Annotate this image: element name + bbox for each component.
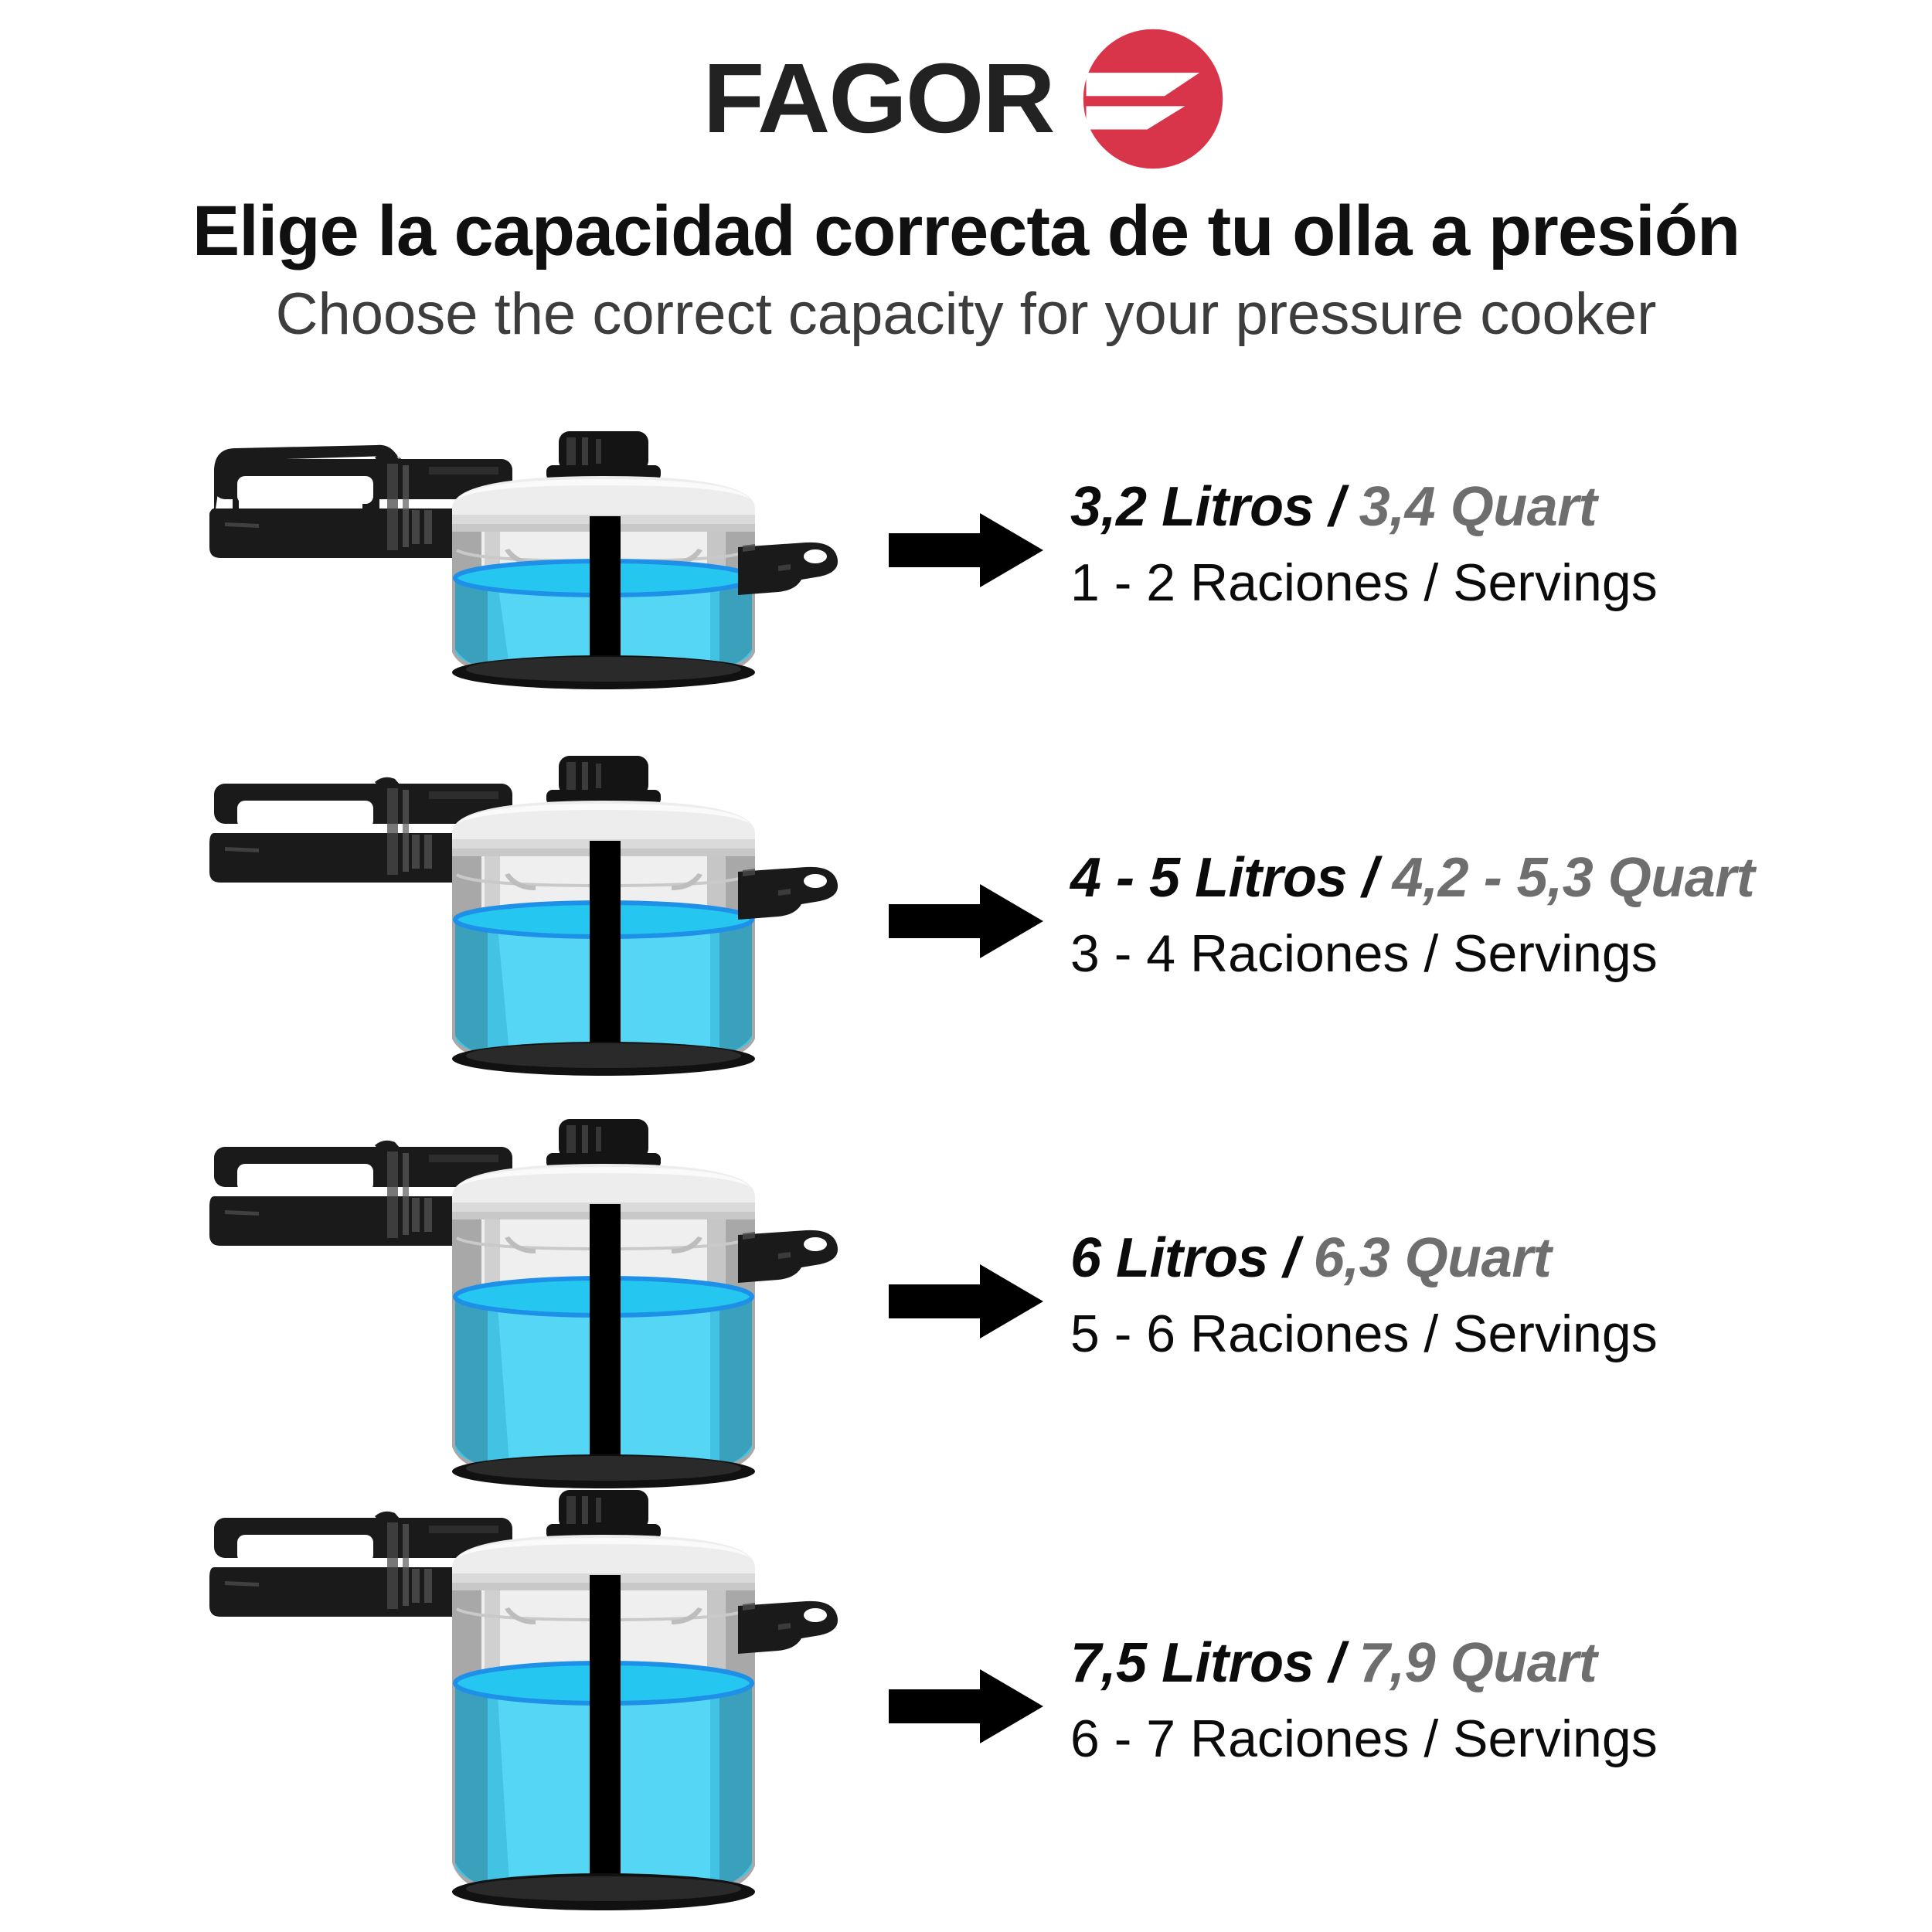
arrow-right-icon (889, 879, 1043, 963)
center-seam (590, 516, 621, 677)
arrow-right-icon (889, 1260, 1043, 1343)
capacity-row: 3,2 Litros / 3,4 Quart 1 - 2 Raciones / … (0, 402, 1932, 711)
capacity-label-group: 4 - 5 Litros / 4,2 - 5,3 Quart 3 - 4 Rac… (1070, 850, 1905, 980)
right-handle-icon (738, 1601, 838, 1654)
pot-base (452, 1873, 755, 1910)
servings-line: 3 - 4 Raciones / Servings (1070, 927, 1905, 980)
brand-header: FAGOR (0, 22, 1932, 176)
capacity-row: 7,5 Litros / 7,9 Quart 6 - 7 Raciones / … (0, 1476, 1932, 1932)
cooker-group-3 (209, 1119, 838, 1488)
pressure-cooker-graphic (197, 1476, 862, 1917)
capacity-separator: / (1314, 476, 1359, 538)
servings-line: 6 - 7 Raciones / Servings (1070, 1713, 1905, 1765)
capacity-separator: / (1268, 1227, 1314, 1289)
infographic-page: FAGOR Elige la capacidad correcta de tu … (0, 0, 1932, 1932)
brand-wordmark: FAGOR (703, 49, 1054, 148)
capacity-separator: / (1314, 1632, 1359, 1694)
capacity-metric: 7,5 Litros (1070, 1632, 1314, 1694)
pressure-cooker-graphic (197, 417, 862, 689)
capacity-metric: 3,2 Litros (1070, 476, 1314, 538)
capacity-imperial: 4,2 - 5,3 Quart (1393, 847, 1755, 909)
capacity-separator: / (1347, 847, 1393, 909)
pot-base (452, 1042, 755, 1076)
cooker-group-2 (209, 756, 838, 1076)
capacity-row: 4 - 5 Litros / 4,2 - 5,3 Quart 3 - 4 Rac… (0, 742, 1932, 1097)
capacity-metric: 6 Litros (1070, 1227, 1268, 1289)
pressure-cooker-icon (197, 1476, 862, 1917)
title-block: Elige la capacidad correcta de tu olla a… (0, 193, 1932, 349)
capacity-imperial: 7,9 Quart (1359, 1632, 1597, 1694)
pressure-cooker-icon (197, 1105, 862, 1492)
capacity-label-group: 6 Litros / 6,3 Quart 5 - 6 Raciones / Se… (1070, 1230, 1905, 1360)
cooker-group-1 (209, 431, 838, 689)
right-handle-icon (738, 543, 838, 595)
pot-base (452, 655, 755, 689)
page-title: Elige la capacidad correcta de tu olla a… (0, 193, 1932, 270)
center-seam (590, 1575, 621, 1896)
capacity-metric: 4 - 5 Litros (1070, 847, 1347, 909)
capacity-imperial: 3,4 Quart (1359, 476, 1597, 538)
servings-line: 5 - 6 Raciones / Servings (1070, 1308, 1905, 1360)
page-subtitle: Choose the correct capacity for your pre… (0, 281, 1932, 348)
center-seam (590, 841, 621, 1063)
capacity-line: 3,2 Litros / 3,4 Quart (1070, 479, 1905, 535)
center-seam (590, 1204, 621, 1476)
arrow-right-icon (889, 1665, 1043, 1748)
capacity-label-group: 3,2 Litros / 3,4 Quart 1 - 2 Raciones / … (1070, 479, 1905, 609)
capacity-row: 6 Litros / 6,3 Quart 5 - 6 Raciones / Se… (0, 1105, 1932, 1507)
capacity-line: 4 - 5 Litros / 4,2 - 5,3 Quart (1070, 850, 1905, 906)
capacity-line: 6 Litros / 6,3 Quart (1070, 1230, 1905, 1286)
arrow-right-icon (889, 509, 1043, 592)
right-handle-icon (738, 1230, 838, 1283)
capacity-imperial: 6,3 Quart (1314, 1227, 1552, 1289)
capacity-line: 7,5 Litros / 7,9 Quart (1070, 1635, 1905, 1691)
pressure-cooker-graphic (197, 1105, 862, 1492)
pressure-cooker-icon (197, 742, 862, 1076)
right-handle-icon (738, 867, 838, 920)
cooker-group-4 (209, 1490, 838, 1910)
servings-line: 1 - 2 Raciones / Servings (1070, 556, 1905, 609)
capacity-label-group: 7,5 Litros / 7,9 Quart 6 - 7 Raciones / … (1070, 1635, 1905, 1765)
pressure-cooker-graphic (197, 742, 862, 1076)
pressure-cooker-icon (197, 417, 862, 689)
fagor-logo-icon (1080, 26, 1226, 172)
